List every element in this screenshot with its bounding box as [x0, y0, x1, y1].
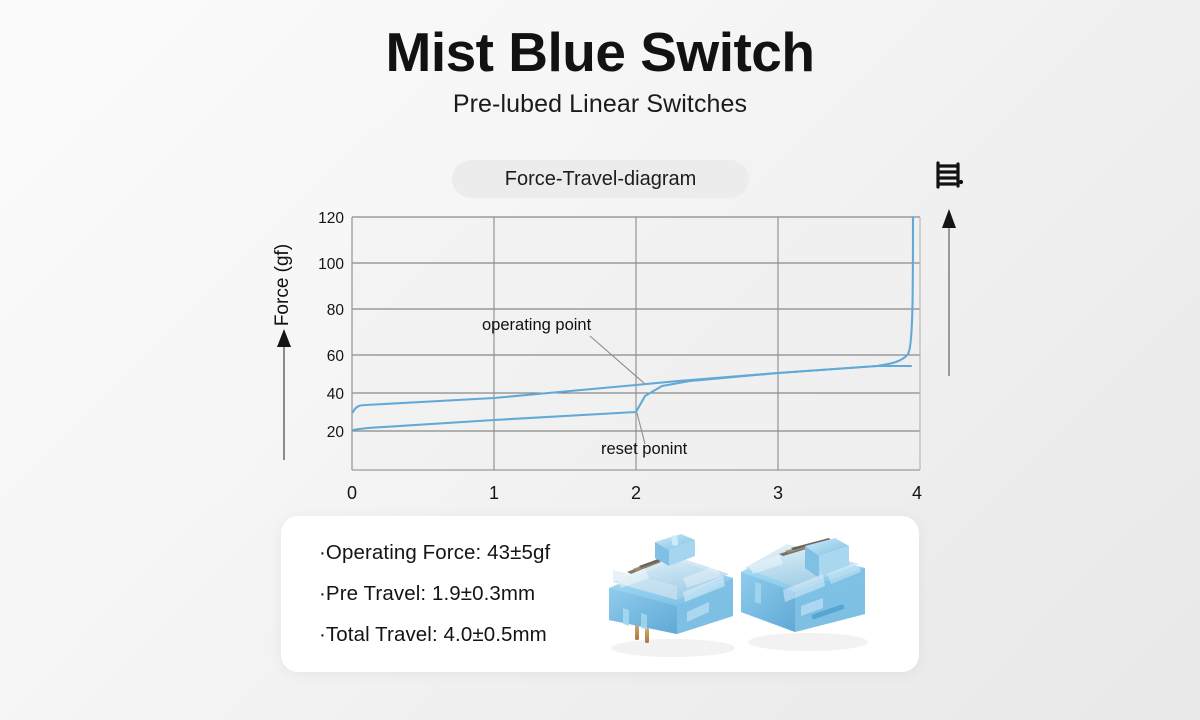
svg-text:1: 1	[489, 483, 499, 503]
specification-list: ·Operating Force: 43±5gf ·Pre Travel: 1.…	[319, 541, 550, 647]
shadow	[748, 633, 868, 651]
svg-text:120: 120	[318, 210, 344, 227]
switch-left	[609, 534, 733, 643]
svg-text:0: 0	[347, 483, 357, 503]
svg-text:20: 20	[327, 424, 345, 441]
svg-text:3: 3	[773, 483, 783, 503]
spec-pre-travel: ·Pre Travel: 1.9±0.3mm	[319, 582, 550, 606]
switch-right	[741, 538, 865, 632]
svg-text:4: 4	[912, 483, 922, 503]
switch-product-image	[583, 516, 913, 672]
page-title: Mist Blue Switch	[0, 22, 1200, 84]
force-travel-chart: Force-Travel-diagram Force (gf)	[0, 140, 1200, 515]
specification-card: ·Operating Force: 43±5gf ·Pre Travel: 1.…	[281, 516, 919, 672]
svg-text:40: 40	[327, 386, 345, 403]
page-header: Mist Blue Switch Pre-lubed Linear Switch…	[0, 0, 1200, 119]
chart-plot-svg: 120 100 80 60 40 20 0 1 2 3 4 operating …	[0, 140, 1200, 515]
x-tick-labels: 0 1 2 3 4	[347, 483, 922, 503]
svg-text:60: 60	[327, 348, 345, 365]
y-tick-labels: 120 100 80 60 40 20	[318, 210, 344, 441]
shadow	[611, 639, 735, 657]
svg-text:80: 80	[327, 302, 345, 319]
spec-operating-force: ·Operating Force: 43±5gf	[319, 541, 550, 565]
page-subtitle: Pre-lubed Linear Switches	[0, 90, 1200, 119]
annotation-operating-point: operating point	[482, 316, 592, 334]
svg-text:100: 100	[318, 256, 344, 273]
svg-text:2: 2	[631, 483, 641, 503]
spec-total-travel: ·Total Travel: 4.0±0.5mm	[319, 623, 550, 647]
